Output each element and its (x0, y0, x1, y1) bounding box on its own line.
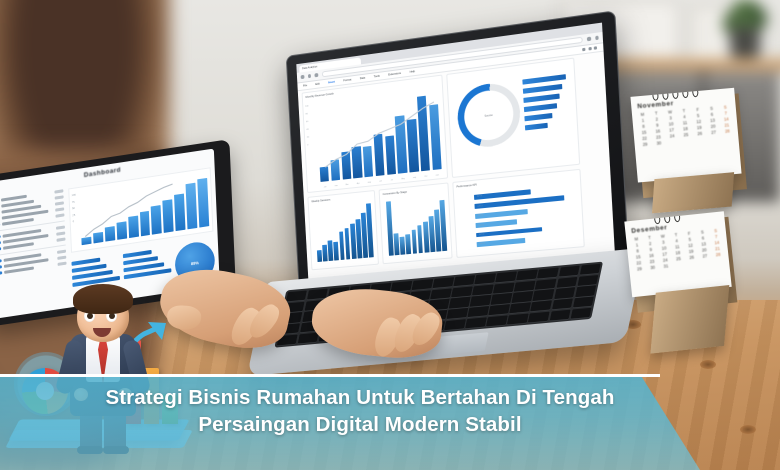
star-icon[interactable] (587, 37, 591, 41)
revenue-x-label: May (365, 181, 374, 184)
revenue-x-label: Nov (433, 174, 442, 177)
page-title-line-1: Strategi Bisnis Rumahan Untuk Bertahan D… (105, 386, 614, 409)
keyboard-key[interactable] (549, 310, 570, 321)
list-label (4, 267, 34, 274)
keyboard-key[interactable] (516, 270, 537, 281)
mini-bar (322, 244, 327, 261)
keyboard-key[interactable] (491, 293, 512, 304)
keyboard-key[interactable] (575, 286, 596, 297)
keyboard-key[interactable] (444, 319, 465, 330)
calendar-day[interactable]: 27 (699, 253, 712, 259)
mini-bar (328, 240, 333, 261)
bullet-icon (0, 241, 1, 244)
keyboard-key[interactable] (391, 281, 412, 292)
chart-card-conversion[interactable]: Conversion By Stage (379, 182, 453, 264)
menu-item-extensions[interactable]: Extensions (388, 72, 401, 77)
keyboard-key[interactable] (570, 308, 591, 319)
keyboard-key[interactable] (554, 288, 575, 299)
keyboard-key[interactable] (556, 277, 577, 288)
chart-title-conversion: Conversion By Stage (380, 184, 448, 196)
calendar-page: November MTWTFSS123456789101112131415161… (630, 88, 741, 183)
menu-item-tools[interactable]: Tools (374, 75, 380, 79)
tablet-trend-line (79, 178, 180, 245)
channel-bar (523, 84, 563, 94)
tablet-dashboard-title: Dashboard (84, 167, 121, 180)
menu-right-icons[interactable] (582, 46, 597, 51)
revenue-x-label: Jul (387, 179, 396, 182)
keyboard-key[interactable] (470, 295, 491, 306)
keyboard-key[interactable] (433, 277, 454, 288)
keyboard-key[interactable] (472, 284, 493, 295)
menu-item-format[interactable]: Format (343, 78, 351, 82)
calendar-page: Desember MTWTFSS123456789101112131415161… (624, 211, 731, 297)
keyboard-key[interactable] (447, 308, 468, 319)
mini-bar (406, 234, 412, 255)
bullet-icon (0, 259, 2, 262)
revenue-x-label: Apr (354, 182, 363, 185)
list-value (58, 262, 67, 266)
calendar-stand (652, 172, 734, 213)
kpi-bar (474, 189, 531, 199)
list-value (57, 238, 66, 242)
tablet-bar (186, 183, 198, 229)
keyboard-key[interactable] (493, 282, 514, 293)
keyboard-key[interactable] (489, 304, 510, 315)
keyboard-key[interactable] (298, 332, 319, 343)
channel-bar (524, 103, 557, 112)
desk-calendar-november[interactable]: November MTWTFSS123456789101112131415161… (630, 87, 745, 182)
plant-pot (730, 28, 760, 58)
list-value (54, 190, 63, 194)
keyboard-key[interactable] (507, 313, 528, 324)
revenue-x-label: Mar (343, 184, 352, 187)
mini-bar (423, 222, 429, 253)
chart-title-sessions: Weekly Sessions (308, 191, 374, 203)
kpi-label: KPI 6 (480, 243, 485, 245)
calendar-day[interactable]: 29 (633, 266, 646, 272)
keyboard-key[interactable] (451, 286, 472, 297)
keyboard-key[interactable] (537, 268, 558, 279)
revenue-x-label: Aug (399, 178, 408, 181)
list-label (3, 242, 34, 249)
keyboard-key[interactable] (572, 297, 593, 308)
mini-bar (400, 237, 405, 255)
forward-arrow-icon[interactable] (308, 74, 311, 78)
hair (73, 284, 133, 314)
tablet-chart-y-axis: 1007550250 (71, 192, 77, 225)
kpi-horizontal-bars: KPI 1KPI 2KPI 3KPI 4KPI 5KPI 6 (474, 186, 567, 247)
calendar-day[interactable]: 27 (707, 129, 720, 135)
channel-bar (524, 113, 552, 122)
list-value (55, 208, 64, 212)
calendar-day[interactable]: 26 (685, 254, 698, 260)
menu-item-data[interactable]: Data (360, 77, 366, 81)
keyboard-key[interactable] (558, 266, 579, 277)
bullet-icon (0, 271, 2, 274)
bullet-icon (0, 247, 1, 250)
channel-horizontal-bars (522, 74, 568, 131)
mini-bar (394, 233, 400, 255)
mini-bar (334, 242, 339, 261)
keyboard-key[interactable] (475, 273, 496, 284)
mini-bar (417, 225, 423, 253)
chart-card-traffic[interactable]: Source (446, 58, 580, 178)
menu-item-edit[interactable]: Edit (315, 83, 319, 86)
mini-bar (440, 200, 447, 251)
keyboard-key[interactable] (577, 275, 598, 286)
browser-tab-title: Data Analytics (302, 65, 317, 70)
list-value (55, 202, 64, 206)
keyboard-key[interactable] (468, 306, 489, 317)
chart-card-kpi[interactable]: Performance KPI KPI 1KPI 2KPI 3KPI 4KPI … (452, 169, 585, 258)
channel-bar (523, 94, 559, 104)
banner-top-rule (0, 374, 660, 377)
keyboard-key[interactable] (286, 290, 307, 301)
donut-center-label: Source (456, 80, 522, 150)
revenue-x-label: Oct (421, 175, 430, 178)
calendar-stand (650, 285, 729, 354)
keyboard-key[interactable] (579, 264, 600, 275)
list-value (56, 226, 65, 230)
desk-wood-knot (700, 360, 716, 369)
bullet-icon (0, 235, 1, 238)
back-arrow-icon[interactable] (301, 75, 304, 79)
keyboard-key[interactable] (533, 290, 554, 301)
calendar-day[interactable]: 30 (646, 264, 659, 270)
revenue-trend-line (316, 88, 444, 184)
comment-icon[interactable] (588, 47, 591, 51)
mini-bar (386, 201, 393, 256)
calendar-day[interactable]: 24 (666, 133, 679, 139)
mini-bar (317, 250, 322, 262)
keyboard-key[interactable] (552, 299, 573, 310)
mini-bar (339, 232, 345, 260)
keyboard-key[interactable] (465, 317, 486, 328)
keyboard-key[interactable] (430, 288, 451, 299)
keyboard-key[interactable] (528, 311, 549, 322)
sessions-bars (315, 203, 374, 262)
laptop-screen[interactable]: Data Analytics FileEditInsertFormatDataT… (296, 23, 615, 281)
calendar-day[interactable]: 25 (672, 256, 685, 262)
keyboard-key[interactable] (454, 275, 475, 286)
share-icon[interactable] (582, 48, 585, 52)
revenue-x-label: Feb (332, 185, 341, 188)
tablet-bar (197, 178, 209, 228)
list-value (55, 196, 64, 200)
desk-calendar-december[interactable]: Desember MTWTFSS123456789101112131415161… (624, 211, 735, 297)
menu-item-help[interactable]: Help (410, 70, 416, 74)
keyboard-key[interactable] (535, 279, 556, 290)
revenue-x-label: Jan (321, 186, 330, 189)
mini-bar (411, 229, 417, 253)
desk-wood-knot (740, 425, 756, 434)
analytics-dashboard: Monthly Revenue Growth 100806040200 JanF… (298, 52, 615, 281)
menu-item-file[interactable]: File (303, 84, 307, 87)
list-value (56, 232, 65, 236)
revenue-x-label: Sep (410, 176, 419, 179)
keyboard-key[interactable] (486, 315, 507, 326)
calendar-day[interactable]: 28 (721, 128, 734, 134)
bullet-icon (0, 265, 2, 268)
keyboard-key[interactable] (412, 279, 433, 290)
page-title: Strategi Bisnis Rumahan Untuk Bertahan D… (0, 384, 720, 438)
list-value (57, 250, 66, 254)
list-value (55, 214, 64, 218)
keyboard-key[interactable] (512, 291, 533, 302)
keyboard-key[interactable] (496, 271, 517, 282)
list-value (57, 256, 66, 260)
page-title-line-2: Persaingan Digital Modern Stabil (0, 411, 720, 438)
profile-avatar-icon[interactable] (595, 36, 599, 40)
chart-card-sessions[interactable]: Weekly Sessions (307, 190, 379, 270)
calendar-day[interactable]: 28 (712, 251, 725, 257)
kpi-bar (476, 227, 542, 238)
calendar-day[interactable]: 31 (660, 263, 673, 269)
calendar-day-grid[interactable]: MTWTFSS123456789101112131415161718192021… (632, 104, 739, 152)
conversion-bars (386, 196, 447, 256)
revenue-x-label: Jun (376, 180, 385, 183)
menu-item-insert[interactable]: Insert (328, 81, 335, 85)
keyboard-key[interactable] (510, 302, 531, 313)
revenue-y-axis: 100806040200 (305, 103, 311, 150)
keyboard-key[interactable] (514, 280, 535, 291)
donut-chart: Source (456, 80, 522, 150)
calendar-day[interactable]: 30 (652, 140, 665, 146)
reload-icon[interactable] (314, 73, 317, 77)
keyboard-key[interactable] (449, 297, 470, 308)
calendar-day[interactable]: 26 (693, 130, 706, 136)
chart-card-revenue[interactable]: Monthly Revenue Growth 100806040200 JanF… (302, 75, 449, 194)
settings-gear-icon[interactable] (594, 46, 597, 50)
keyboard-key[interactable] (531, 301, 552, 312)
tablet-metric-list[interactable] (0, 189, 67, 277)
calendar-day[interactable]: 29 (638, 141, 651, 147)
calendar-day[interactable]: 25 (679, 132, 692, 138)
channel-bar (525, 123, 548, 131)
screenshot-stage: Dashboard 1007550250 88% (0, 0, 780, 470)
list-label (2, 218, 34, 225)
